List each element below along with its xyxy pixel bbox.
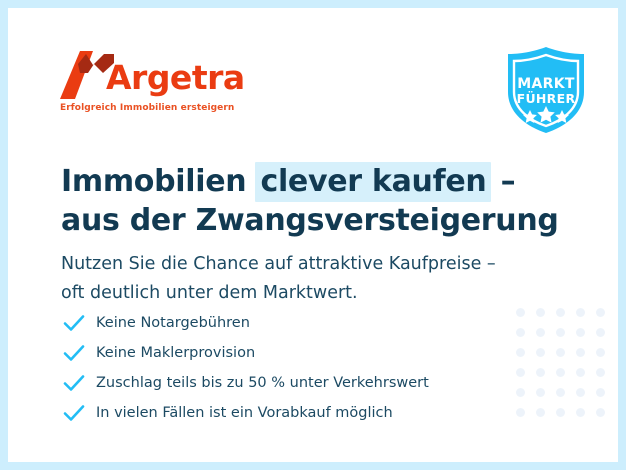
decoration-dot: [516, 408, 525, 417]
headline: Immobilien clever kaufen – aus der Zwang…: [61, 162, 559, 240]
decoration-dot: [596, 368, 605, 377]
headline-line-2: aus der Zwangsversteigerung: [61, 201, 559, 240]
subheadline-line-1: Nutzen Sie die Chance auf attraktive Kau…: [61, 250, 496, 279]
decoration-dot: [596, 388, 605, 397]
decoration-dot: [536, 308, 545, 317]
badge-line-2: FÜHRER: [517, 91, 576, 106]
decoration-dot: [516, 328, 525, 337]
decoration-dot: [576, 328, 585, 337]
check-icon: [63, 404, 85, 422]
decoration-dot: [556, 328, 565, 337]
headline-line-1: Immobilien clever kaufen –: [61, 162, 559, 201]
dot-grid-decoration: [516, 308, 616, 428]
logo-tagline: Erfolgreich Immobilien ersteigern: [60, 103, 234, 113]
decoration-dot: [556, 408, 565, 417]
benefit-label: Keine Notargebühren: [96, 315, 250, 331]
decoration-dot: [556, 388, 565, 397]
decoration-dot: [596, 408, 605, 417]
decoration-dot: [516, 368, 525, 377]
badge-line-1: MARKT: [517, 76, 575, 92]
check-icon: [63, 314, 85, 332]
promo-banner: Argetra Erfolgreich Immobilien ersteiger…: [0, 0, 626, 470]
benefit-label: Keine Maklerprovision: [96, 345, 255, 361]
benefit-label: Zuschlag teils bis zu 50 % unter Verkehr…: [96, 375, 429, 391]
subheadline: Nutzen Sie die Chance auf attraktive Kau…: [61, 250, 496, 308]
check-icon: [63, 374, 85, 392]
benefit-item: In vielen Fällen ist ein Vorabkauf mögli…: [63, 398, 429, 428]
decoration-dot: [516, 348, 525, 357]
logo-mark-row: Argetra: [60, 51, 260, 99]
benefit-item: Keine Maklerprovision: [63, 338, 429, 368]
check-icon: [63, 344, 85, 362]
decoration-dot: [596, 308, 605, 317]
decoration-dot: [556, 348, 565, 357]
decoration-dot: [556, 368, 565, 377]
banner-canvas: Argetra Erfolgreich Immobilien ersteiger…: [8, 8, 618, 462]
headline-prefix: Immobilien: [61, 164, 256, 199]
decoration-dot: [576, 348, 585, 357]
decoration-dot: [536, 348, 545, 357]
decoration-dot: [516, 388, 525, 397]
benefit-item: Keine Notargebühren: [63, 308, 429, 338]
decoration-dot: [556, 308, 565, 317]
headline-highlight: clever kaufen: [255, 162, 491, 202]
decoration-dot: [576, 368, 585, 377]
decoration-dot: [596, 328, 605, 337]
decoration-dot: [576, 308, 585, 317]
subheadline-line-2: oft deutlich unter dem Marktwert.: [61, 279, 496, 308]
headline-suffix: –: [490, 164, 515, 199]
decoration-dot: [536, 368, 545, 377]
decoration-dot: [536, 408, 545, 417]
benefits-list: Keine NotargebührenKeine Maklerprovision…: [63, 308, 429, 428]
decoration-dot: [576, 388, 585, 397]
shield-icon: MARKT FÜHRER: [500, 44, 592, 136]
benefit-label: In vielen Fällen ist ein Vorabkauf mögli…: [96, 405, 393, 421]
decoration-dot: [576, 408, 585, 417]
market-leader-badge: MARKT FÜHRER: [500, 44, 592, 136]
decoration-dot: [536, 328, 545, 337]
decoration-dot: [536, 388, 545, 397]
decoration-dot: [516, 308, 525, 317]
decoration-dot: [596, 348, 605, 357]
argetra-logo[interactable]: Argetra Erfolgreich Immobilien ersteiger…: [60, 51, 260, 99]
benefit-item: Zuschlag teils bis zu 50 % unter Verkehr…: [63, 368, 429, 398]
logo-wordmark: Argetra: [106, 59, 245, 97]
